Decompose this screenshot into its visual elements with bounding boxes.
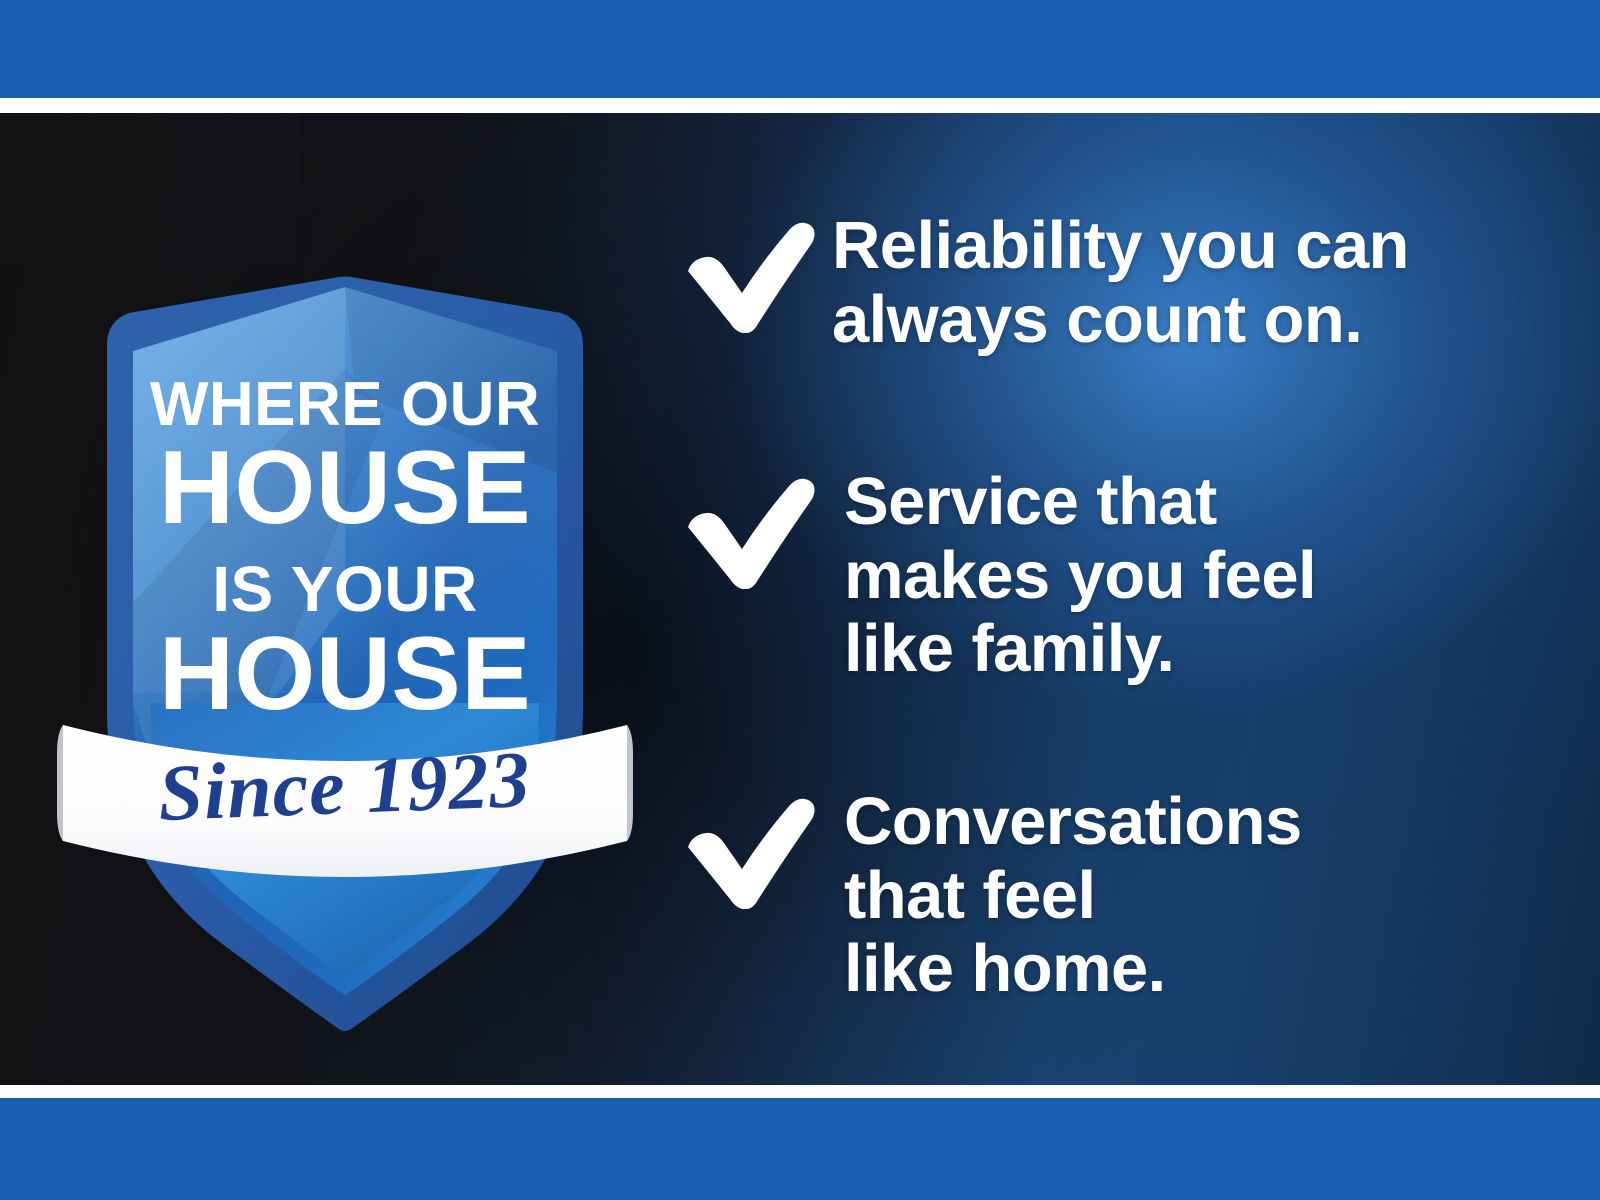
ribbon-left-fold bbox=[57, 725, 63, 841]
badge-line-2: HOUSE bbox=[159, 430, 531, 546]
main-stage: WHERE OUR HOUSE IS YOUR HOUSE Since 1923 bbox=[0, 113, 1600, 1085]
badge-line-3: IS YOUR bbox=[212, 553, 478, 625]
shield-badge: WHERE OUR HOUSE IS YOUR HOUSE Since 1923 bbox=[55, 273, 635, 1063]
benefits-list: Reliability you can always count on. Ser… bbox=[672, 113, 1572, 1085]
list-item-label: Service that makes you feel like family. bbox=[844, 465, 1316, 686]
list-item-label: Reliability you can always count on. bbox=[832, 209, 1409, 356]
check-icon bbox=[672, 471, 822, 589]
list-item: Service that makes you feel like family. bbox=[672, 465, 1316, 686]
list-item-label: Conversations that feel like home. bbox=[844, 785, 1302, 1006]
ribbon-script-text: Since 1923 bbox=[157, 736, 532, 838]
check-icon bbox=[672, 791, 822, 909]
ribbon-right-fold bbox=[627, 725, 633, 841]
list-item: Conversations that feel like home. bbox=[672, 785, 1302, 1006]
promo-graphic: WHERE OUR HOUSE IS YOUR HOUSE Since 1923 bbox=[0, 0, 1600, 1200]
check-icon bbox=[672, 215, 822, 333]
bottom-brand-bar bbox=[0, 1098, 1600, 1200]
list-item: Reliability you can always count on. bbox=[672, 209, 1409, 356]
badge-line-1: WHERE OUR bbox=[150, 370, 540, 439]
badge-line-4: HOUSE bbox=[159, 616, 531, 732]
top-brand-bar bbox=[0, 0, 1600, 98]
